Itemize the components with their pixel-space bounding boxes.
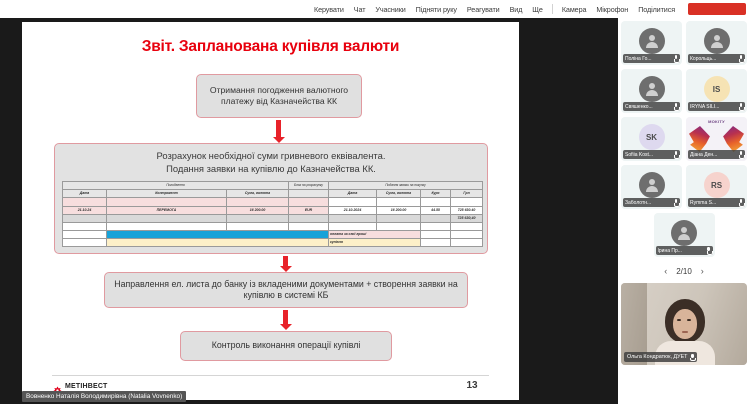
cell-uah: 725 630.40 xyxy=(451,207,483,215)
participant-name-badge: Заболотн... xyxy=(623,198,680,207)
th-uah: Грн xyxy=(451,190,483,198)
participant-tile-7[interactable]: Заболотн... xyxy=(621,165,682,209)
th-date-right: Дата xyxy=(329,190,377,198)
currency-table-wrapper: Погодження Блок на розрахунку Подання за… xyxy=(62,181,482,247)
flow-step-2-line1: Розрахунок необхідної суми гривневого ек… xyxy=(61,150,481,163)
toolbar-manage[interactable]: Керувати xyxy=(309,5,349,14)
avatar: SK xyxy=(639,124,665,150)
cell-note-1: оплата за свої гроші xyxy=(329,231,421,239)
speaker-mouth xyxy=(682,331,688,333)
cell-counterparty: ПЕРЕМОГА xyxy=(107,207,227,215)
presenter-name-badge: Вовненко Наталія Володимирівна (Natalia … xyxy=(22,391,186,402)
th-blank xyxy=(289,190,329,198)
participant-name-badge: Поліна Го... xyxy=(623,54,680,63)
avatar xyxy=(704,28,730,54)
table-row: 21.10.24 ПЕРЕМОГА 16 200.00 EUR 21.10.20… xyxy=(63,207,483,215)
arrow-down-icon-3 xyxy=(283,310,288,325)
wing-left-icon xyxy=(689,126,711,152)
avatar: RS xyxy=(704,172,730,198)
toolbar-microphone[interactable]: Мікрофон xyxy=(591,5,633,14)
person-icon xyxy=(645,83,658,96)
flow-step-3: Направлення ел. листа до банку із вкладе… xyxy=(104,272,468,308)
speaker-face xyxy=(673,309,697,339)
page-title: Звіт. Запланована купівля валюти xyxy=(22,38,519,56)
participant-name-label: IRYNA SILI... xyxy=(690,104,737,110)
participant-tile-9[interactable]: Ірина Пр... xyxy=(654,213,715,257)
participant-name-label: Корольць... xyxy=(690,56,737,62)
avatar: IS xyxy=(704,76,730,102)
avatar xyxy=(639,28,665,54)
active-speaker-tile[interactable]: Ольга Кондратюк, ДУЕТ xyxy=(621,283,747,365)
avatar xyxy=(671,220,697,246)
toolbar-participants[interactable]: Учасники xyxy=(370,5,410,14)
participant-name-label: Ірина Пр... xyxy=(658,248,705,254)
toolbar-raise-hand[interactable]: Підняти руку xyxy=(411,5,462,14)
th-counterparty: Контрагент xyxy=(107,190,227,198)
wing-right-icon xyxy=(722,126,744,152)
toolbar-camera[interactable]: Камера xyxy=(557,5,592,14)
table-group-left: Погодження xyxy=(63,182,289,190)
participant-name-label: Rymma S... xyxy=(690,200,737,206)
leave-meeting-button[interactable] xyxy=(688,3,746,15)
participant-tile-5[interactable]: SK Sofiia Kost... xyxy=(621,117,682,161)
participant-name-badge: Ірина Пр... xyxy=(656,246,713,255)
avatar-initials: IS xyxy=(713,85,721,94)
table-header-row: Дата Контрагент Сума, валюта Дата Сума, … xyxy=(63,190,483,198)
participant-tile-1[interactable]: Поліна Го... xyxy=(621,21,682,65)
wings-title: МОКІТУ xyxy=(686,119,747,124)
flow-step-2: Розрахунок необхідної суми гривневого ек… xyxy=(54,143,488,254)
participant-tile-6[interactable]: МОКІТУ Діана Ден... xyxy=(686,117,747,161)
toolbar-react[interactable]: Реагувати xyxy=(462,5,505,14)
flow-step-3-label: Направлення ел. листа до банку із вкладе… xyxy=(111,279,461,302)
cell-total: 725 630,40 xyxy=(451,215,483,223)
participant-name-badge: Діана Ден... xyxy=(688,150,745,159)
slide-footer-divider xyxy=(52,375,489,376)
cell-highlight-yellow xyxy=(107,239,329,247)
participant-tile-2[interactable]: Корольць... xyxy=(686,21,747,65)
presentation-slide: Звіт. Запланована купівля валюти Отриман… xyxy=(22,22,519,400)
meeting-window: Керувати Чат Учасники Підняти руку Реагу… xyxy=(0,0,750,404)
table-highlight-row-yellow: купівля xyxy=(63,239,483,247)
toolbar-divider xyxy=(552,4,553,14)
metinvest-mark-icon xyxy=(53,382,62,391)
person-icon xyxy=(645,179,658,192)
slide-number: 13 xyxy=(452,380,492,391)
company-logo-text: МЕТІНВЕСТ xyxy=(65,383,107,390)
participant-tile-3[interactable]: Свяшенко... xyxy=(621,69,682,113)
participant-name-label: Заболотн... xyxy=(625,200,672,206)
table-total-row: 725 630,40 xyxy=(63,215,483,223)
participant-name-label: Поліна Го... xyxy=(625,56,672,62)
toolbar-more[interactable]: Ще xyxy=(527,5,548,14)
active-speaker-name-badge: Ольга Кондратюк, ДУЕТ xyxy=(624,352,697,362)
company-logo: МЕТІНВЕСТ xyxy=(53,382,107,391)
table-group-row: Погодження Блок на розрахунку Подання за… xyxy=(63,182,483,190)
participant-pager: ‹ 2/10 › xyxy=(621,262,747,280)
cell-note-2: купівля xyxy=(329,239,421,247)
microphone-muted-icon xyxy=(674,103,678,110)
speaker-eye-right xyxy=(687,319,691,321)
currency-purchase-table: Погодження Блок на розрахунку Подання за… xyxy=(62,181,483,247)
microphone-muted-icon xyxy=(674,151,678,158)
th-date-left: Дата xyxy=(63,190,107,198)
cell-date-left: 21.10.24 xyxy=(63,207,107,215)
participant-name-label: Sofiia Kost... xyxy=(625,152,672,158)
chevron-right-icon[interactable]: › xyxy=(701,266,704,276)
flow-step-4-label: Контроль виконання операції купівлі xyxy=(212,340,361,351)
avatar-initials: RS xyxy=(711,181,722,190)
microphone-muted-icon xyxy=(739,55,743,62)
table-highlight-row-cyan: оплата за свої гроші xyxy=(63,231,483,239)
microphone-muted-icon xyxy=(674,55,678,62)
flow-step-2-line2: Подання заявки на купівлю до Казначейств… xyxy=(61,163,481,176)
table-spacer-row xyxy=(63,198,483,207)
shared-screen-stage: Звіт. Запланована купівля валюти Отриман… xyxy=(0,18,618,404)
table-blank-row xyxy=(63,223,483,231)
flow-step-1-label: Отримання погодження валютного платежу в… xyxy=(203,85,355,107)
toolbar-view[interactable]: Вид xyxy=(505,5,528,14)
pager-label: 2/10 xyxy=(676,267,692,276)
participant-name-badge: IRYNA SILI... xyxy=(688,102,745,111)
cell-sum-right: 16 200.00 xyxy=(377,207,421,215)
avatar-initials: SK xyxy=(646,133,657,142)
participant-tile-8[interactable]: RS Rymma S... xyxy=(686,165,747,209)
flow-step-4: Контроль виконання операції купівлі xyxy=(180,331,392,361)
participant-name-badge: Свяшенко... xyxy=(623,102,680,111)
meeting-toolbar: Керувати Чат Учасники Підняти руку Реагу… xyxy=(0,0,750,18)
participant-name-badge: Sofiia Kost... xyxy=(623,150,680,159)
participant-name-badge: Корольць... xyxy=(688,54,745,63)
arrow-down-icon-2 xyxy=(283,256,288,267)
speaker-eye-left xyxy=(677,319,681,321)
microphone-muted-icon xyxy=(739,199,743,206)
th-sum-currency-right: Сума, валюта xyxy=(377,190,421,198)
person-icon xyxy=(645,35,658,48)
cell-date-right: 21.10.2024 xyxy=(329,207,377,215)
cell-currency: EUR xyxy=(289,207,329,215)
microphone-icon xyxy=(690,354,694,361)
avatar xyxy=(639,172,665,198)
microphone-muted-icon xyxy=(739,103,743,110)
th-sum-currency-left: Сума, валюта xyxy=(227,190,289,198)
person-icon xyxy=(710,35,723,48)
participant-tile-4[interactable]: IS IRYNA SILI... xyxy=(686,69,747,113)
person-icon xyxy=(678,227,691,240)
flow-step-2-heading: Розрахунок необхідної суми гривневого ек… xyxy=(61,147,481,175)
arrow-down-icon-1 xyxy=(276,120,281,138)
cell-rate: 44.55 xyxy=(421,207,451,215)
microphone-muted-icon xyxy=(707,247,711,254)
participant-rail: Поліна Го... Корольць... Свяшенко. xyxy=(618,18,750,404)
microphone-muted-icon xyxy=(674,199,678,206)
microphone-muted-icon xyxy=(739,151,743,158)
participant-name-badge: Rymma S... xyxy=(688,198,745,207)
active-speaker-name-label: Ольга Кондратюк, ДУЕТ xyxy=(627,354,687,360)
cell-highlight-cyan xyxy=(107,231,329,239)
participant-grid: Поліна Го... Корольць... Свяшенко. xyxy=(621,21,747,257)
avatar xyxy=(639,76,665,102)
participant-name-label: Діана Ден... xyxy=(690,152,737,158)
cell-sum-left: 16 200.00 xyxy=(227,207,289,215)
participant-name-label: Свяшенко... xyxy=(625,104,672,110)
th-rate: Курс xyxy=(421,190,451,198)
chevron-left-icon[interactable]: ‹ xyxy=(664,266,667,276)
flow-step-1: Отримання погодження валютного платежу в… xyxy=(196,74,362,118)
toolbar-share[interactable]: Поділитися xyxy=(633,5,680,14)
toolbar-chat[interactable]: Чат xyxy=(349,5,371,14)
table-group-right: Подання заявки на покупку xyxy=(329,182,483,190)
presenter-name-label: Вовненко Наталія Володимирівна (Natalia … xyxy=(26,393,182,400)
table-group-mid: Блок на розрахунку xyxy=(289,182,329,190)
